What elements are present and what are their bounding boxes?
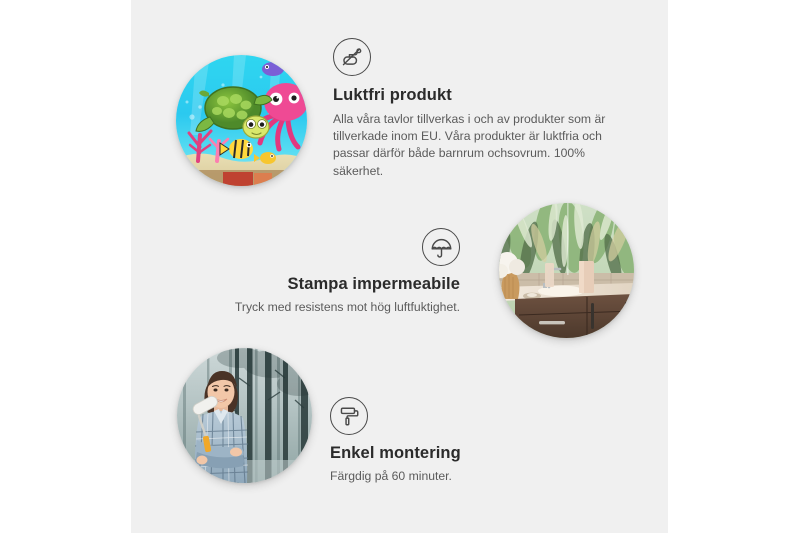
feature-waterproof: Stampa impermeabile Tryck med resistens … <box>195 228 460 316</box>
feature-body: Färgdig på 60 minuter. <box>330 468 610 485</box>
paint-roller-icon <box>330 397 368 435</box>
feature-easy-mounting: Enkel montering Färgdig på 60 minuter. <box>330 397 610 485</box>
no-odour-icon <box>333 38 371 76</box>
photo-ocean <box>176 55 307 186</box>
feature-title: Stampa impermeabile <box>195 274 460 295</box>
feature-odour-free: Luktfri produkt Alla våra tavlor tillver… <box>333 38 633 180</box>
photo-forest <box>177 348 312 483</box>
feature-body: Alla våra tavlor tillverkas i och av pro… <box>333 111 623 180</box>
feature-title: Luktfri produkt <box>333 85 633 106</box>
umbrella-icon <box>422 228 460 266</box>
feature-title: Enkel montering <box>330 443 610 464</box>
feature-body: Tryck med resistens mot hög luftfuktighe… <box>195 299 460 316</box>
promo-graphic: Luktfri produkt Alla våra tavlor tillver… <box>0 0 800 533</box>
photo-bathroom <box>499 203 634 338</box>
